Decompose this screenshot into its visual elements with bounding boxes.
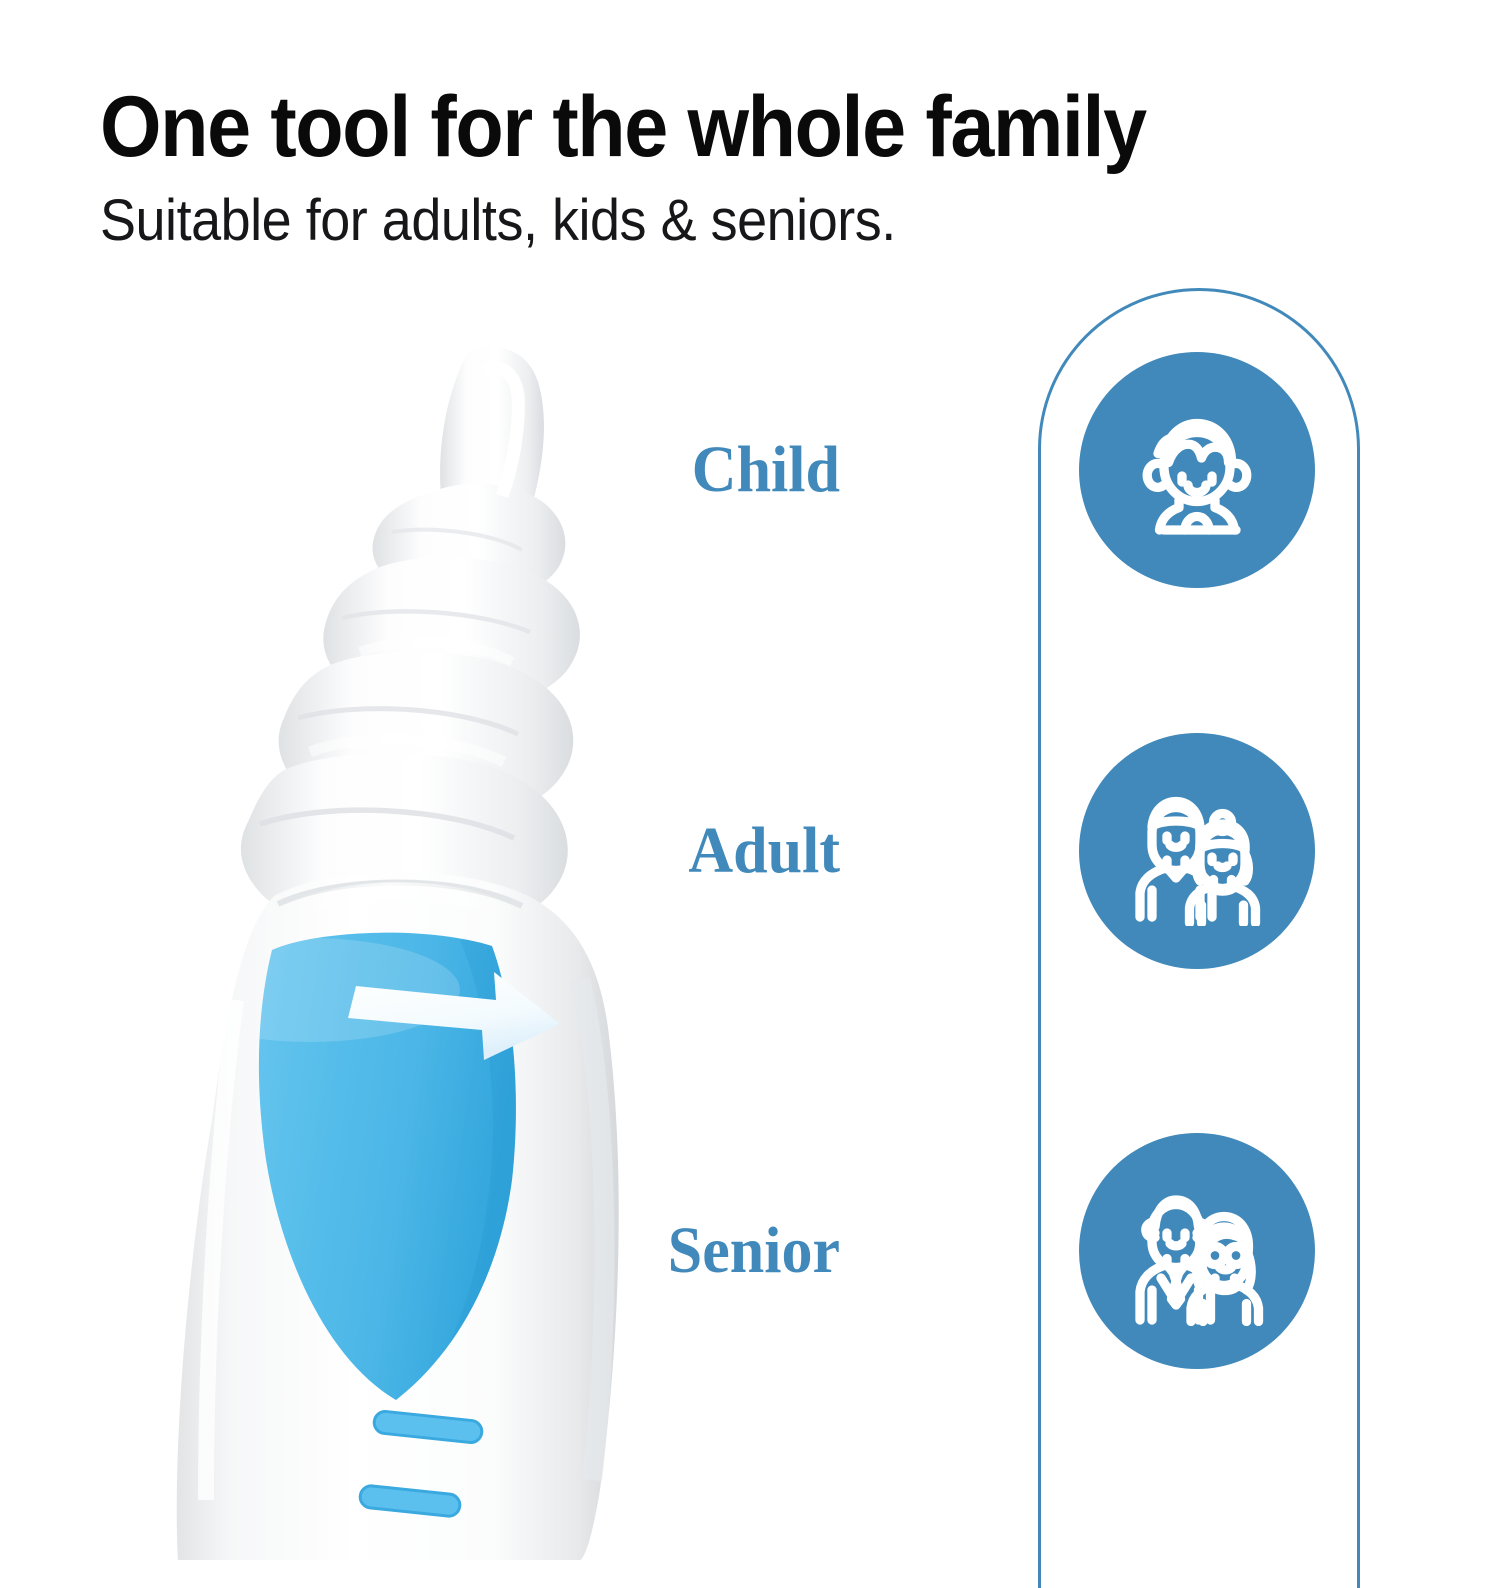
audience-row-child: Child <box>0 352 1500 588</box>
audience-label-senior: Senior <box>668 1218 840 1284</box>
senior-couple-icon <box>1122 1176 1272 1326</box>
audience-row-adult: Adult <box>0 733 1500 969</box>
senior-icon-badge <box>1079 1133 1315 1369</box>
audience-row-senior: Senior <box>0 1133 1500 1369</box>
page-title: One tool for the whole family <box>100 84 1287 170</box>
adult-icon-badge <box>1079 733 1315 969</box>
header-block: One tool for the whole family Suitable f… <box>100 84 1390 250</box>
adult-couple-icon <box>1122 776 1272 926</box>
child-icon-badge <box>1079 352 1315 588</box>
audience-label-child: Child <box>692 437 840 503</box>
audience-label-adult: Adult <box>688 818 840 884</box>
child-face-icon <box>1122 395 1272 545</box>
page-subtitle: Suitable for adults, kids & seniors. <box>100 192 1300 250</box>
